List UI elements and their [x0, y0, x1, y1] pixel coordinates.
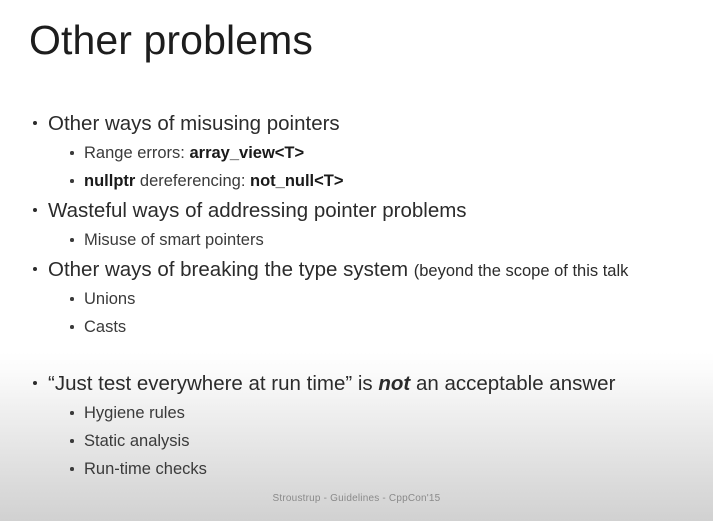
list-item: Unions — [0, 285, 713, 313]
bullet-dot-icon — [33, 208, 37, 212]
list-item: Other ways of misusing pointers — [0, 108, 713, 139]
slide-canvas: Other problems Other ways of misusing po… — [0, 0, 713, 521]
bullet-dot-icon — [70, 297, 74, 301]
list-item-label: Run-time checks — [84, 460, 207, 478]
list-item: Casts — [0, 313, 713, 341]
list-item-label: Range errors: — [84, 144, 189, 162]
bullet-dot-icon — [70, 325, 74, 329]
list-item: nullptr dereferencing: not_null<T> — [0, 167, 713, 195]
list-item: Wasteful ways of addressing pointer prob… — [0, 195, 713, 226]
list-item-label: Casts — [84, 318, 126, 336]
bullet-dot-icon — [33, 121, 37, 125]
list-item: Run-time checks — [0, 455, 713, 483]
bullet-dot-icon — [70, 439, 74, 443]
page-title: Other problems — [29, 14, 313, 66]
list-item-label: Other ways of misusing pointers — [48, 112, 340, 135]
list-item-label: Hygiene rules — [84, 404, 185, 422]
bullet-dot-icon — [70, 467, 74, 471]
bullet-dot-icon — [70, 151, 74, 155]
bullet-dot-icon — [33, 267, 37, 271]
list-item-label: Static analysis — [84, 432, 189, 450]
list-item-label: “Just test everywhere at run time” is — [48, 372, 378, 395]
bullet-dot-icon — [33, 381, 37, 385]
list-item-label: Other ways of breaking the type system — [48, 258, 414, 281]
list-item-label: Wasteful ways of addressing pointer prob… — [48, 199, 467, 222]
list-spacer — [0, 341, 713, 368]
bullet-dot-icon — [70, 238, 74, 242]
bullet-dot-icon — [70, 179, 74, 183]
list-item-label: Unions — [84, 290, 135, 308]
list-item-label-tail: an acceptable answer — [410, 372, 615, 395]
code-term: nullptr — [84, 172, 135, 190]
bullet-list: Other ways of misusing pointers Range er… — [0, 108, 713, 483]
bullet-dot-icon — [70, 411, 74, 415]
list-item-label: Misuse of smart pointers — [84, 231, 264, 249]
list-item: Static analysis — [0, 427, 713, 455]
list-item: “Just test everywhere at run time” is no… — [0, 368, 713, 399]
list-item: Range errors: array_view<T> — [0, 139, 713, 167]
list-item-label: dereferencing: — [135, 172, 250, 190]
list-item: Hygiene rules — [0, 399, 713, 427]
slide-footer: Stroustrup - Guidelines - CppCon'15 — [0, 492, 713, 506]
list-item: Misuse of smart pointers — [0, 226, 713, 254]
emphasis-text: not — [378, 372, 410, 395]
code-term: not_null<T> — [250, 172, 344, 190]
list-item-parenthetical: (beyond the scope of this talk — [414, 262, 629, 280]
list-item: Other ways of breaking the type system (… — [0, 254, 713, 285]
code-term: array_view<T> — [189, 144, 304, 162]
